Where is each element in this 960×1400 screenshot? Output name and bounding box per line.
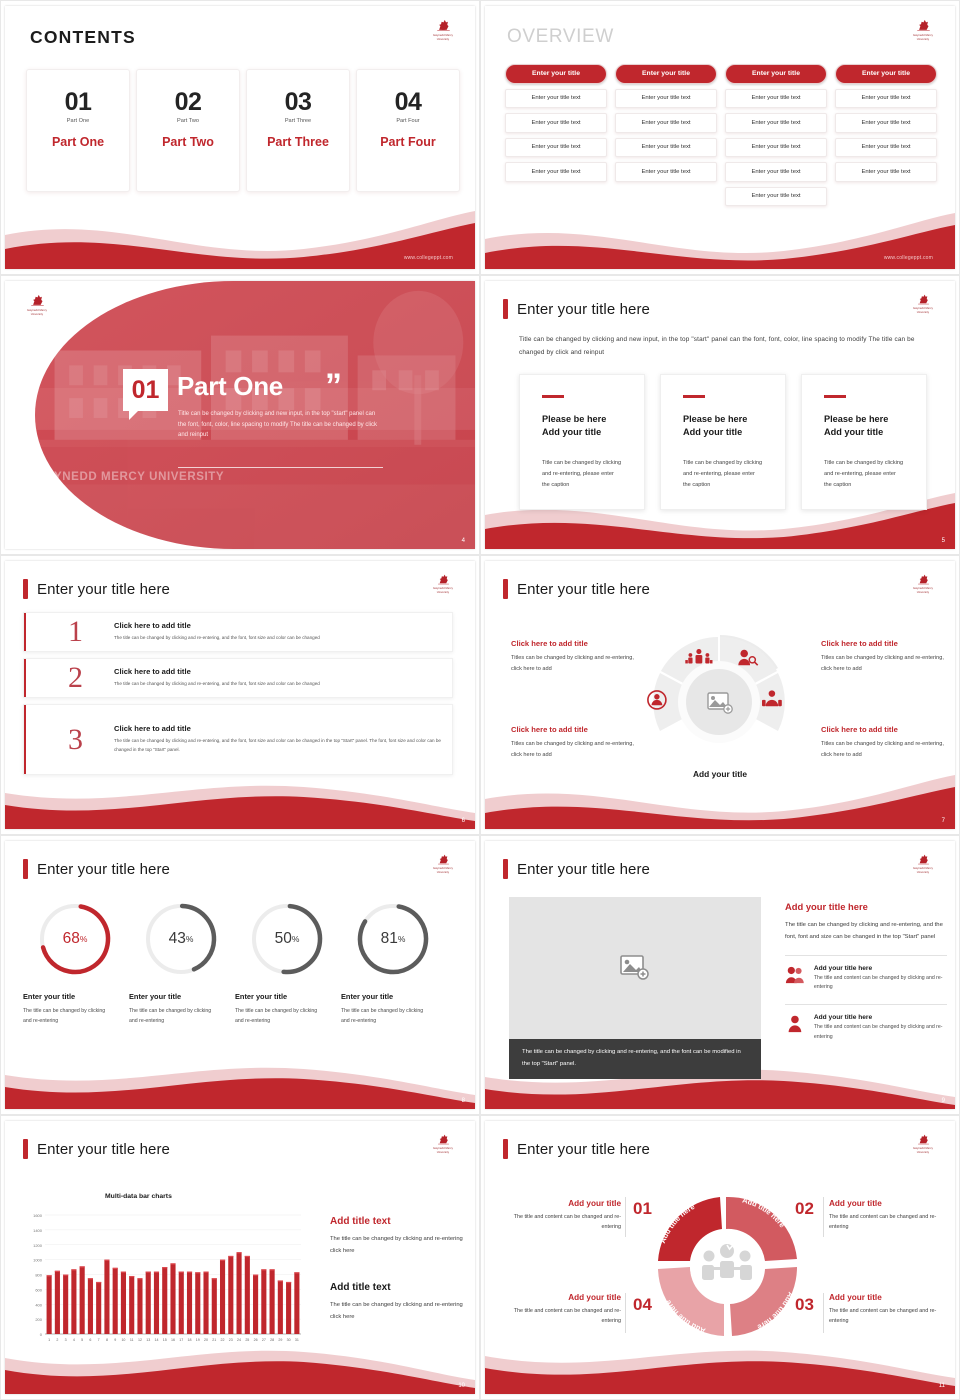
- title-accent-bar: [503, 1139, 508, 1159]
- radial-item-text-4: Click here to add title Titles can be ch…: [821, 725, 953, 761]
- logo-line-1: Gwynedd Mercy: [905, 587, 941, 590]
- donut-title: Enter your title: [235, 992, 341, 1001]
- block-body: The title can be changed by clicking and…: [330, 1234, 470, 1257]
- university-logo: Gwynedd Mercy University: [19, 293, 55, 316]
- chart-x-tick: 4: [73, 1338, 75, 1342]
- quadrant-separator: [823, 1197, 824, 1237]
- title-accent-bar: [503, 579, 508, 599]
- chart-x-tick: 22: [221, 1338, 225, 1342]
- overview-item[interactable]: Enter your title text: [835, 89, 937, 109]
- logo-line-2: University: [905, 871, 941, 874]
- card-accent-dash: [824, 395, 846, 398]
- right-text-panel: Add your title here The title can be cha…: [785, 901, 947, 1052]
- chart-bar[interactable]: [113, 1268, 118, 1334]
- overview-item[interactable]: Enter your title text: [835, 113, 937, 133]
- chart-x-tick: 26: [254, 1338, 258, 1342]
- chart-bar[interactable]: [245, 1256, 250, 1334]
- chart-x-tick: 23: [229, 1338, 233, 1342]
- card-list: Please be hereAdd your title Title can b…: [519, 374, 927, 510]
- list-item[interactable]: 1 Click here to add title The title can …: [23, 612, 453, 652]
- logo-line-1: Gwynedd Mercy: [425, 1147, 461, 1150]
- donut-item[interactable]: 43% Enter your title The title can be ch…: [129, 899, 235, 1026]
- chart-bar[interactable]: [146, 1272, 151, 1334]
- quadrant-body: The title and content can be changed and…: [509, 1212, 621, 1233]
- card-accent-dash: [683, 395, 705, 398]
- footer-link[interactable]: www.collegeppt.com: [404, 255, 453, 261]
- overview-item[interactable]: Enter your title text: [505, 89, 607, 109]
- donut-title: Enter your title: [341, 992, 447, 1001]
- chart-x-tick: 14: [154, 1338, 158, 1342]
- chart-bar[interactable]: [237, 1252, 242, 1334]
- item-body: Titles can be changed by clicking and re…: [511, 653, 643, 675]
- page-title-text: Enter your title here: [37, 581, 170, 598]
- donut-unit: %: [292, 934, 300, 944]
- chart-x-tick: 18: [188, 1338, 192, 1342]
- slide-contents: CONTENTS Gwynedd Mercy University 01 Par…: [0, 0, 480, 275]
- page-title: Enter your title here: [503, 299, 650, 319]
- logo-line-1: Gwynedd Mercy: [905, 867, 941, 870]
- logo-line-2: University: [905, 38, 941, 41]
- logo-line-2: University: [19, 313, 55, 316]
- slide-cycle-four: Enter your title here Gwynedd Mercy Univ…: [480, 1115, 960, 1400]
- block-title: Add title text: [330, 1282, 470, 1293]
- griffin-icon: [917, 853, 930, 866]
- griffin-icon: [30, 293, 45, 308]
- quadrant-title: Add your title: [509, 1293, 621, 1302]
- slide-radial-four: Enter your title here Gwynedd Mercy Univ…: [480, 555, 960, 835]
- chart-bar[interactable]: [154, 1272, 159, 1334]
- svg-text:1600: 1600: [33, 1213, 43, 1218]
- slide-numbered-list: Enter your title here Gwynedd Mercy Univ…: [0, 555, 480, 835]
- quadrant-text-01: Add your title The title and content can…: [509, 1199, 621, 1233]
- contents-card[interactable]: 01 Part One Part One: [26, 69, 130, 192]
- card-part-label: Part Two: [162, 135, 214, 149]
- quadrant-body: The title and content can be changed and…: [829, 1306, 941, 1327]
- overview-item[interactable]: Enter your title text: [725, 138, 827, 158]
- donut-value: 81%: [353, 899, 433, 979]
- quadrant-body: The title and content can be changed and…: [509, 1306, 621, 1327]
- chart-bar[interactable]: [203, 1272, 208, 1334]
- card-title-line-1: Please be here: [542, 414, 606, 424]
- university-logo: Gwynedd Mercy University: [905, 853, 941, 874]
- item-title: Click here to add title: [511, 725, 643, 734]
- donut-value: 43%: [141, 899, 221, 979]
- quadrant-text-04: Add your title The title and content can…: [509, 1293, 621, 1327]
- radial-item-text-3: Click here to add title Titles can be ch…: [511, 725, 643, 761]
- page-title: Enter your title here: [23, 579, 170, 599]
- item-body: Titles can be changed by clicking and re…: [821, 653, 953, 675]
- chart-bar[interactable]: [47, 1275, 52, 1334]
- lead-paragraph: Title can be changed by clicking and new…: [519, 334, 919, 360]
- card-title-line-1: Please be here: [824, 414, 888, 424]
- slide-bar-chart: Enter your title here Gwynedd Mercy Univ…: [0, 1115, 480, 1400]
- overview-item[interactable]: Enter your title text: [505, 162, 607, 182]
- card-title-line-2: Add your title: [542, 427, 601, 437]
- card-number: 04: [395, 90, 422, 115]
- chart-bar[interactable]: [170, 1263, 175, 1334]
- overview-item[interactable]: Enter your title text: [505, 138, 607, 158]
- panel-divider: [785, 955, 947, 956]
- column-pill-button[interactable]: Enter your title: [505, 64, 607, 84]
- chart-x-tick: 24: [237, 1338, 241, 1342]
- card-title-line-1: Please be here: [683, 414, 747, 424]
- logo-line-1: Gwynedd Mercy: [425, 587, 461, 590]
- chart-x-tick: 25: [245, 1338, 249, 1342]
- slide-three-cards: Enter your title here Gwynedd Mercy Univ…: [480, 275, 960, 555]
- row-title: Click here to add title: [114, 724, 442, 733]
- title-accent-bar: [23, 579, 28, 599]
- slide-overview: OVERVIEW Gwynedd Mercy University Enter …: [480, 0, 960, 275]
- donut-number: 43: [169, 930, 186, 948]
- logo-line-1: Gwynedd Mercy: [425, 34, 461, 37]
- card-number: 01: [65, 90, 92, 115]
- chart-bar[interactable]: [253, 1275, 258, 1335]
- part-number-badge: 01: [123, 369, 168, 411]
- svg-text:200: 200: [35, 1317, 42, 1322]
- donut-unit: %: [398, 934, 406, 944]
- page-title-text: Enter your title here: [517, 301, 650, 318]
- overview-item[interactable]: Enter your title text: [725, 187, 827, 207]
- griffin-icon: [917, 293, 930, 306]
- column-pill-button[interactable]: Enter your title: [835, 64, 937, 84]
- logo-line-2: University: [905, 311, 941, 314]
- donut-value: 50%: [247, 899, 327, 979]
- svg-text:1400: 1400: [33, 1228, 43, 1233]
- card-number: 02: [175, 90, 202, 115]
- title-accent-bar: [503, 299, 508, 319]
- chart-bar[interactable]: [212, 1278, 217, 1334]
- logo-line-1: Gwynedd Mercy: [905, 1147, 941, 1150]
- chart-bar[interactable]: [129, 1276, 134, 1334]
- overview-item[interactable]: Enter your title text: [725, 113, 827, 133]
- row-body: The title can be changed by clicking and…: [114, 634, 320, 642]
- page-title: CONTENTS: [30, 27, 136, 48]
- quadrant-title: Add your title: [829, 1199, 941, 1208]
- two-people-icon: [785, 965, 805, 985]
- page-title-text: Enter your title here: [37, 861, 170, 878]
- logo-line-2: University: [905, 591, 941, 594]
- overview-columns: Enter your title Enter your title text E…: [505, 64, 937, 206]
- overview-item[interactable]: Enter your title text: [505, 113, 607, 133]
- radial-item-text-1: Click here to add title Titles can be ch…: [511, 639, 643, 675]
- university-logo: Gwynedd Mercy University: [905, 18, 941, 41]
- svg-text:400: 400: [35, 1302, 42, 1307]
- card-part-label: Part Four: [380, 135, 436, 149]
- content-card[interactable]: Please be hereAdd your title Title can b…: [660, 374, 786, 510]
- page-number: 10: [458, 1383, 465, 1389]
- griffin-icon: [437, 853, 450, 866]
- chart-x-tick: 9: [114, 1338, 116, 1342]
- chart-bar[interactable]: [80, 1266, 85, 1334]
- chart-x-tick: 28: [270, 1338, 274, 1342]
- image-placeholder-icon: [509, 897, 761, 1039]
- block-body: The title can be changed by clicking and…: [330, 1300, 470, 1323]
- quadrant-title: Add your title: [509, 1199, 621, 1208]
- donut-unit: %: [80, 934, 88, 944]
- griffin-icon: [437, 573, 450, 586]
- donut-item[interactable]: 68% Enter your title The title can be ch…: [23, 899, 129, 1026]
- page-title-text: Enter your title here: [517, 581, 650, 598]
- card-part-label: Part One: [52, 135, 104, 149]
- overview-item[interactable]: Enter your title text: [725, 162, 827, 182]
- page-title-text: Enter your title here: [37, 1141, 170, 1158]
- list-item[interactable]: 3 Click here to add title The title can …: [23, 704, 453, 775]
- footer-link[interactable]: www.collegeppt.com: [884, 255, 933, 261]
- quadrant-title: Add your title: [829, 1293, 941, 1302]
- bar-chart[interactable]: 0200400600800100012001400160012345678910…: [19, 1209, 307, 1354]
- donut-title: Enter your title: [23, 992, 129, 1001]
- quadrant-text-02: Add your title The title and content can…: [829, 1199, 941, 1233]
- chart-bar[interactable]: [179, 1272, 184, 1334]
- overview-item[interactable]: Enter your title text: [835, 138, 937, 158]
- chart-x-tick: 10: [121, 1338, 125, 1342]
- chart-x-tick: 16: [171, 1338, 175, 1342]
- overview-column: Enter your title Enter your title text E…: [835, 64, 937, 206]
- logo-line-1: Gwynedd Mercy: [19, 309, 55, 312]
- griffin-icon: [917, 573, 930, 586]
- campus-sign-watermark: GWYNEDD MERCY UNIVERSITY: [33, 471, 224, 483]
- page-title: Enter your title here: [23, 859, 170, 879]
- chart-bar[interactable]: [270, 1269, 275, 1334]
- card-body: Title can be changed by clicking and re-…: [824, 458, 904, 492]
- chart-bar[interactable]: [278, 1280, 283, 1334]
- donut-number: 81: [381, 930, 398, 948]
- logo-line-1: Gwynedd Mercy: [905, 307, 941, 310]
- overview-column: Enter your title Enter your title text E…: [615, 64, 717, 206]
- chart-x-tick: 17: [179, 1338, 183, 1342]
- list-item[interactable]: 2 Click here to add title The title can …: [23, 658, 453, 698]
- university-logo: Gwynedd Mercy University: [425, 573, 461, 594]
- chart-bar[interactable]: [137, 1278, 142, 1334]
- side-text-blocks: Add title text The title can be changed …: [330, 1216, 470, 1323]
- contents-card[interactable]: 02 Part Two Part Two: [136, 69, 240, 192]
- donut-body: The title can be changed by clicking and…: [341, 1006, 433, 1026]
- page-number: 9: [942, 1098, 945, 1104]
- chart-bar[interactable]: [187, 1272, 192, 1334]
- card-body: Title can be changed by clicking and re-…: [542, 458, 622, 492]
- slide-donut-percentages: Enter your title here Gwynedd Mercy Univ…: [0, 835, 480, 1115]
- chart-bar[interactable]: [121, 1272, 126, 1334]
- page-title: Enter your title here: [503, 859, 650, 879]
- chart-bar[interactable]: [220, 1260, 225, 1334]
- footer-wave: [5, 1045, 475, 1109]
- title-accent-bar: [23, 1139, 28, 1159]
- chart-x-tick: 15: [163, 1338, 167, 1342]
- university-logo: Gwynedd Mercy University: [905, 1133, 941, 1154]
- chart-title: Multi-data bar charts: [105, 1193, 172, 1200]
- item-title: Click here to add title: [821, 725, 953, 734]
- card-title-line-2: Add your title: [683, 427, 742, 437]
- chart-x-tick: 30: [287, 1338, 291, 1342]
- page-number: 11: [939, 1383, 945, 1389]
- slide-deck-grid: CONTENTS Gwynedd Mercy University 01 Par…: [0, 0, 960, 1400]
- slide-image-and-text: Enter your title here Gwynedd Mercy Univ…: [480, 835, 960, 1115]
- card-subtitle: Part One: [67, 118, 89, 124]
- overview-column: Enter your title Enter your title text E…: [505, 64, 607, 206]
- chart-bar[interactable]: [63, 1275, 68, 1335]
- row-number: 3: [68, 723, 83, 757]
- logo-line-2: University: [425, 871, 461, 874]
- contents-card[interactable]: 03 Part Three Part Three: [246, 69, 350, 192]
- divider-rule: [178, 467, 383, 468]
- chart-x-tick: 21: [212, 1338, 216, 1342]
- item-body: Titles can be changed by clicking and re…: [821, 739, 953, 761]
- page-number: 7: [942, 818, 945, 824]
- quote-glyph-icon: ”: [325, 367, 342, 406]
- griffin-icon: [437, 1133, 450, 1146]
- page-title: Enter your title here: [503, 579, 650, 599]
- chart-x-tick: 27: [262, 1338, 266, 1342]
- page-title-text: Enter your title here: [517, 861, 650, 878]
- feature-title: Add your title here: [814, 965, 947, 972]
- chart-bar[interactable]: [286, 1282, 291, 1334]
- donut-number: 50: [275, 930, 292, 948]
- block-title-accent: Add title text: [330, 1216, 470, 1227]
- card-subtitle: Part Two: [177, 118, 199, 124]
- donut-unit: %: [186, 934, 194, 944]
- quadrant-separator: [625, 1293, 626, 1333]
- chart-x-tick: 20: [204, 1338, 208, 1342]
- university-logo: Gwynedd Mercy University: [905, 573, 941, 594]
- card-title-line-2: Add your title: [824, 427, 883, 437]
- slide-divider-part-one: Gwynedd Mercy University 01 Part One ” T…: [0, 275, 480, 555]
- chart-bar[interactable]: [55, 1271, 60, 1334]
- donut-list: 68% Enter your title The title can be ch…: [23, 899, 447, 1026]
- content-card[interactable]: Please be hereAdd your title Title can b…: [519, 374, 645, 510]
- row-number: 2: [68, 661, 83, 695]
- donut-chart: 81%: [353, 899, 433, 979]
- page-number: 5: [942, 538, 945, 544]
- contents-card[interactable]: 04 Part Four Part Four: [356, 69, 460, 192]
- chart-bar[interactable]: [195, 1272, 200, 1334]
- chart-x-tick: 8: [106, 1338, 108, 1342]
- part-body-text: Title can be changed by clicking and new…: [178, 409, 383, 441]
- column-pill-button[interactable]: Enter your title: [725, 64, 827, 84]
- person-icon: [785, 1014, 805, 1034]
- part-title: Part One: [177, 371, 283, 402]
- chart-x-tick: 1: [48, 1338, 50, 1342]
- overview-item[interactable]: Enter your title text: [615, 113, 717, 133]
- donut-body: The title can be changed by clicking and…: [23, 1006, 115, 1026]
- card-accent-dash: [542, 395, 564, 398]
- donut-body: The title can be changed by clicking and…: [235, 1006, 327, 1026]
- item-title: Click here to add title: [511, 639, 643, 648]
- chart-x-tick: 6: [89, 1338, 91, 1342]
- donut-item[interactable]: 81% Enter your title The title can be ch…: [341, 899, 447, 1026]
- donut-number: 68: [63, 930, 80, 948]
- svg-text:0: 0: [40, 1332, 43, 1337]
- image-caption: The title can be changed by clicking and…: [509, 1039, 761, 1079]
- griffin-icon: [916, 18, 931, 33]
- chart-x-tick: 12: [138, 1338, 142, 1342]
- feature-row[interactable]: Add your title here The title and conten…: [785, 1014, 947, 1042]
- item-body: Titles can be changed by clicking and re…: [511, 739, 643, 761]
- logo-line-1: Gwynedd Mercy: [425, 867, 461, 870]
- griffin-icon: [917, 1133, 930, 1146]
- row-title: Click here to add title: [114, 667, 320, 676]
- quadrant-text-03: Add your title The title and content can…: [829, 1293, 941, 1327]
- logo-line-2: University: [425, 38, 461, 41]
- university-logo: Gwynedd Mercy University: [425, 853, 461, 874]
- chart-bar[interactable]: [162, 1267, 167, 1334]
- university-logo: Gwynedd Mercy University: [425, 18, 461, 41]
- chart-x-tick: 7: [98, 1338, 100, 1342]
- chart-bar[interactable]: [88, 1278, 93, 1334]
- card-body: Title can be changed by clicking and re-…: [683, 458, 763, 492]
- feature-body: The title and content can be changed by …: [814, 1023, 947, 1042]
- chart-bar[interactable]: [261, 1269, 266, 1334]
- logo-line-2: University: [425, 591, 461, 594]
- overview-item[interactable]: Enter your title text: [835, 162, 937, 182]
- chart-bar[interactable]: [294, 1272, 299, 1334]
- chart-x-tick: 13: [146, 1338, 150, 1342]
- item-title: Click here to add title: [821, 639, 953, 648]
- page-number: 4: [462, 538, 465, 544]
- row-number: 1: [68, 615, 83, 649]
- card-subtitle: Part Three: [285, 118, 311, 124]
- feature-row[interactable]: Add your title here The title and conten…: [785, 965, 947, 993]
- card-number: 03: [285, 90, 312, 115]
- svg-text:600: 600: [35, 1287, 42, 1292]
- cycle-diagram[interactable]: Add title here Add title here Add title …: [640, 1179, 815, 1354]
- radial-item-text-2: Click here to add title Titles can be ch…: [821, 639, 953, 675]
- image-placeholder[interactable]: The title can be changed by clicking and…: [509, 897, 761, 1079]
- donut-value: 68%: [35, 899, 115, 979]
- page-number: 6: [462, 818, 465, 824]
- panel-divider: [785, 1004, 947, 1005]
- row-body: The title can be changed by clicking and…: [114, 737, 442, 754]
- overview-item[interactable]: Enter your title text: [615, 138, 717, 158]
- overview-item[interactable]: Enter your title text: [615, 162, 717, 182]
- chart-bar[interactable]: [71, 1269, 76, 1334]
- numbered-row-list: 1 Click here to add title The title can …: [23, 612, 453, 775]
- card-subtitle: Part Four: [396, 118, 419, 124]
- radial-diagram[interactable]: [635, 627, 805, 777]
- content-card[interactable]: Please be hereAdd your title Title can b…: [801, 374, 927, 510]
- donut-chart: 43%: [141, 899, 221, 979]
- donut-chart: 68%: [35, 899, 115, 979]
- page-number: 8: [462, 1098, 465, 1104]
- overview-item[interactable]: Enter your title text: [615, 89, 717, 109]
- page-title-text: Enter your title here: [517, 1141, 650, 1158]
- overview-column: Enter your title Enter your title text E…: [725, 64, 827, 206]
- page-title: Enter your title here: [503, 1139, 650, 1159]
- diagram-caption: Add your title: [635, 769, 805, 779]
- quadrant-separator: [625, 1197, 626, 1237]
- svg-text:1200: 1200: [33, 1243, 43, 1248]
- chart-x-tick: 5: [81, 1338, 83, 1342]
- donut-chart: 50%: [247, 899, 327, 979]
- overview-item[interactable]: Enter your title text: [725, 89, 827, 109]
- chart-bar[interactable]: [96, 1282, 101, 1334]
- title-accent-bar: [23, 859, 28, 879]
- page-title: OVERVIEW: [507, 26, 614, 48]
- feature-body: The title and content can be changed by …: [814, 974, 947, 993]
- donut-item[interactable]: 50% Enter your title The title can be ch…: [235, 899, 341, 1026]
- panel-title: Add your title here: [785, 901, 947, 912]
- donut-body: The title can be changed by clicking and…: [129, 1006, 221, 1026]
- chart-bar[interactable]: [104, 1260, 109, 1334]
- chart-bar[interactable]: [228, 1256, 233, 1334]
- logo-line-2: University: [905, 1151, 941, 1154]
- chart-x-tick: 19: [196, 1338, 200, 1342]
- logo-line-1: Gwynedd Mercy: [905, 34, 941, 37]
- row-body: The title can be changed by clicking and…: [114, 680, 320, 688]
- svg-text:1000: 1000: [33, 1258, 43, 1263]
- page-title: Enter your title here: [23, 1139, 170, 1159]
- chart-x-tick: 2: [56, 1338, 58, 1342]
- column-pill-button[interactable]: Enter your title: [615, 64, 717, 84]
